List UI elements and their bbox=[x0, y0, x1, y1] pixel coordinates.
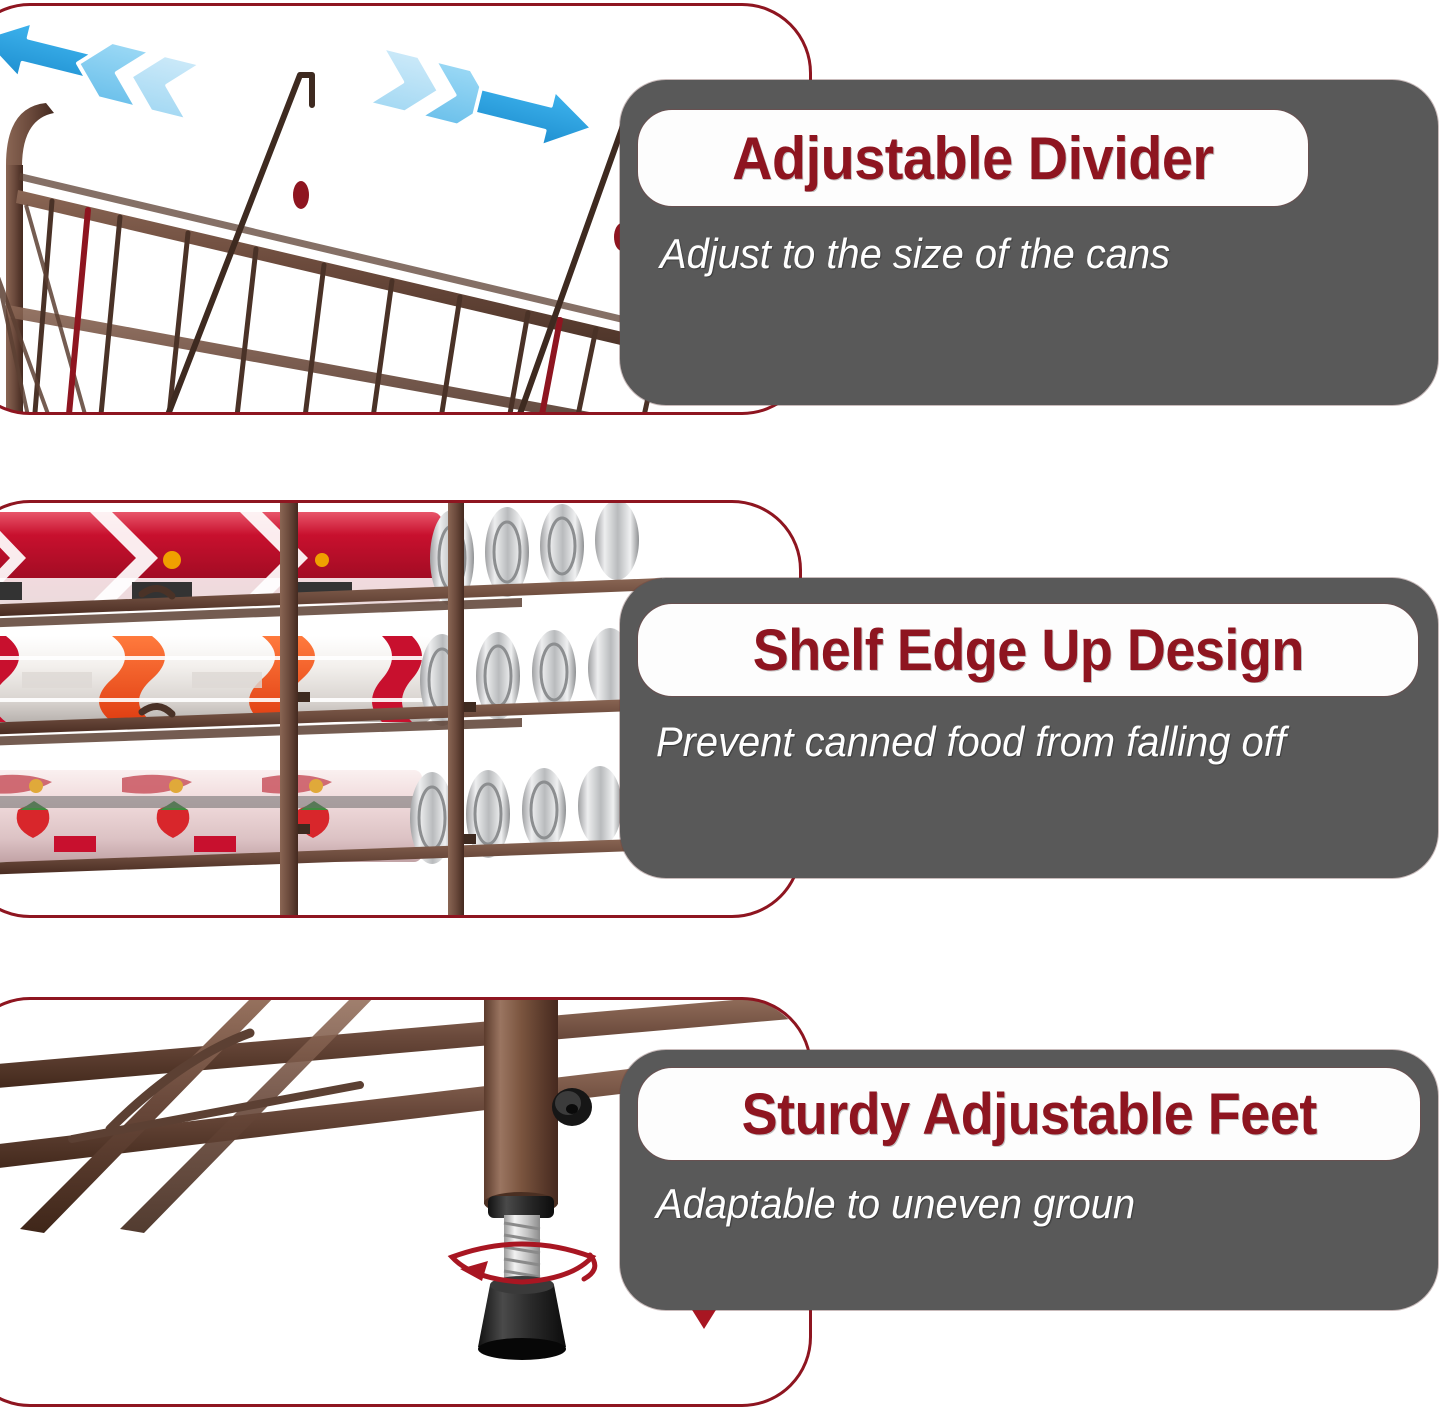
panel-title: Sturdy Adjustable Feet bbox=[741, 1081, 1316, 1148]
title-plate-adjustable-feet: Sturdy Adjustable Feet bbox=[638, 1068, 1420, 1160]
title-plate-adjustable-divider: Adjustable Divider bbox=[638, 110, 1308, 206]
panel-subtitle: Adaptable to uneven groun bbox=[656, 1180, 1135, 1228]
feature-panel-adjustable-divider: Adjustable Divider Adjust to the size of… bbox=[0, 0, 1445, 470]
callout-adjustable-divider: Adjustable Divider Adjust to the size of… bbox=[620, 80, 1438, 405]
panel-subtitle: Adjust to the size of the cans bbox=[660, 230, 1170, 278]
feature-panel-shelf-edge-up: Shelf Edge Up Design Prevent canned food… bbox=[0, 470, 1445, 940]
panel-title: Adjustable Divider bbox=[732, 124, 1214, 193]
panel-subtitle: Prevent canned food from falling off bbox=[656, 718, 1286, 766]
title-plate-shelf-edge-up: Shelf Edge Up Design bbox=[638, 604, 1418, 696]
callout-shelf-edge-up: Shelf Edge Up Design Prevent canned food… bbox=[620, 578, 1438, 878]
feature-panel-adjustable-feet: Sturdy Adjustable Feet Adaptable to unev… bbox=[0, 940, 1445, 1419]
callout-adjustable-feet: Sturdy Adjustable Feet Adaptable to unev… bbox=[620, 1050, 1438, 1310]
panel-title: Shelf Edge Up Design bbox=[752, 617, 1303, 684]
